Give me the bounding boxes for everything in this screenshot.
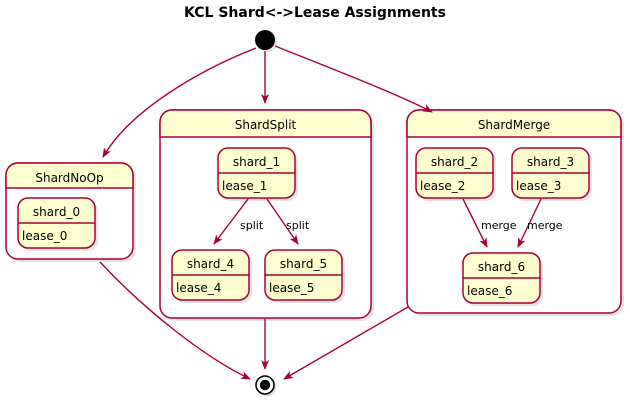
state-shard-1[interactable]: shard_1 lease_1 bbox=[218, 148, 298, 201]
state-shard-2[interactable]: shard_2 lease_2 bbox=[416, 148, 496, 201]
transition-shard-1-to-shard-5-label: split bbox=[286, 219, 310, 232]
transition-shard-2-to-shard-6-label: merge bbox=[481, 219, 517, 232]
state-shard-4-name: shard_4 bbox=[187, 257, 234, 271]
state-shard-0[interactable]: shard_0 lease_0 bbox=[18, 198, 98, 251]
composite-shard-noop[interactable]: ShardNoOp shard_0 lease_0 bbox=[6, 163, 136, 262]
state-shard-5-body: lease_5 bbox=[269, 281, 314, 295]
state-shard-3-name: shard_3 bbox=[527, 155, 574, 169]
state-shard-5[interactable]: shard_5 lease_5 bbox=[265, 250, 345, 303]
start-node-circle bbox=[255, 30, 275, 50]
composite-shard-merge-label: ShardMerge bbox=[478, 118, 550, 132]
transition-shard-3-to-shard-6-label: merge bbox=[527, 219, 563, 232]
transition-start-to-shard-merge-line bbox=[275, 46, 432, 112]
state-shard-4[interactable]: shard_4 lease_4 bbox=[172, 250, 252, 303]
state-shard-0-name: shard_0 bbox=[33, 205, 80, 219]
state-shard-2-name: shard_2 bbox=[431, 155, 478, 169]
composite-shard-split[interactable]: ShardSplit shard_1 lease_1 shard_4 lease… bbox=[160, 110, 374, 321]
diagram-svg: KCL Shard<->Lease Assignments ShardNoOp … bbox=[0, 0, 630, 405]
state-shard-6[interactable]: shard_6 lease_6 bbox=[463, 253, 543, 306]
transition-start-to-shard-merge bbox=[275, 46, 432, 112]
state-shard-0-body: lease_0 bbox=[22, 229, 67, 243]
end-node-inner-circle bbox=[260, 380, 270, 390]
diagram-title: KCL Shard<->Lease Assignments bbox=[184, 5, 446, 21]
state-shard-4-body: lease_4 bbox=[176, 281, 221, 295]
end-node[interactable] bbox=[256, 376, 277, 397]
transition-shard-1-to-shard-4-label: split bbox=[240, 219, 264, 232]
composite-shard-split-label: ShardSplit bbox=[235, 118, 297, 132]
state-shard-1-name: shard_1 bbox=[233, 155, 280, 169]
start-node[interactable] bbox=[255, 30, 277, 52]
state-shard-6-name: shard_6 bbox=[478, 260, 525, 274]
state-shard-6-body: lease_6 bbox=[467, 284, 512, 298]
state-shard-5-name: shard_5 bbox=[280, 257, 327, 271]
state-shard-1-body: lease_1 bbox=[222, 179, 267, 193]
composite-shard-noop-label: ShardNoOp bbox=[35, 171, 103, 185]
state-shard-3-body: lease_3 bbox=[516, 179, 561, 193]
state-shard-3[interactable]: shard_3 lease_3 bbox=[512, 148, 592, 201]
state-shard-2-body: lease_2 bbox=[420, 179, 465, 193]
state-diagram-canvas: KCL Shard<->Lease Assignments ShardNoOp … bbox=[0, 0, 630, 405]
composite-shard-merge[interactable]: ShardMerge shard_2 lease_2 shard_3 lease… bbox=[407, 110, 624, 316]
